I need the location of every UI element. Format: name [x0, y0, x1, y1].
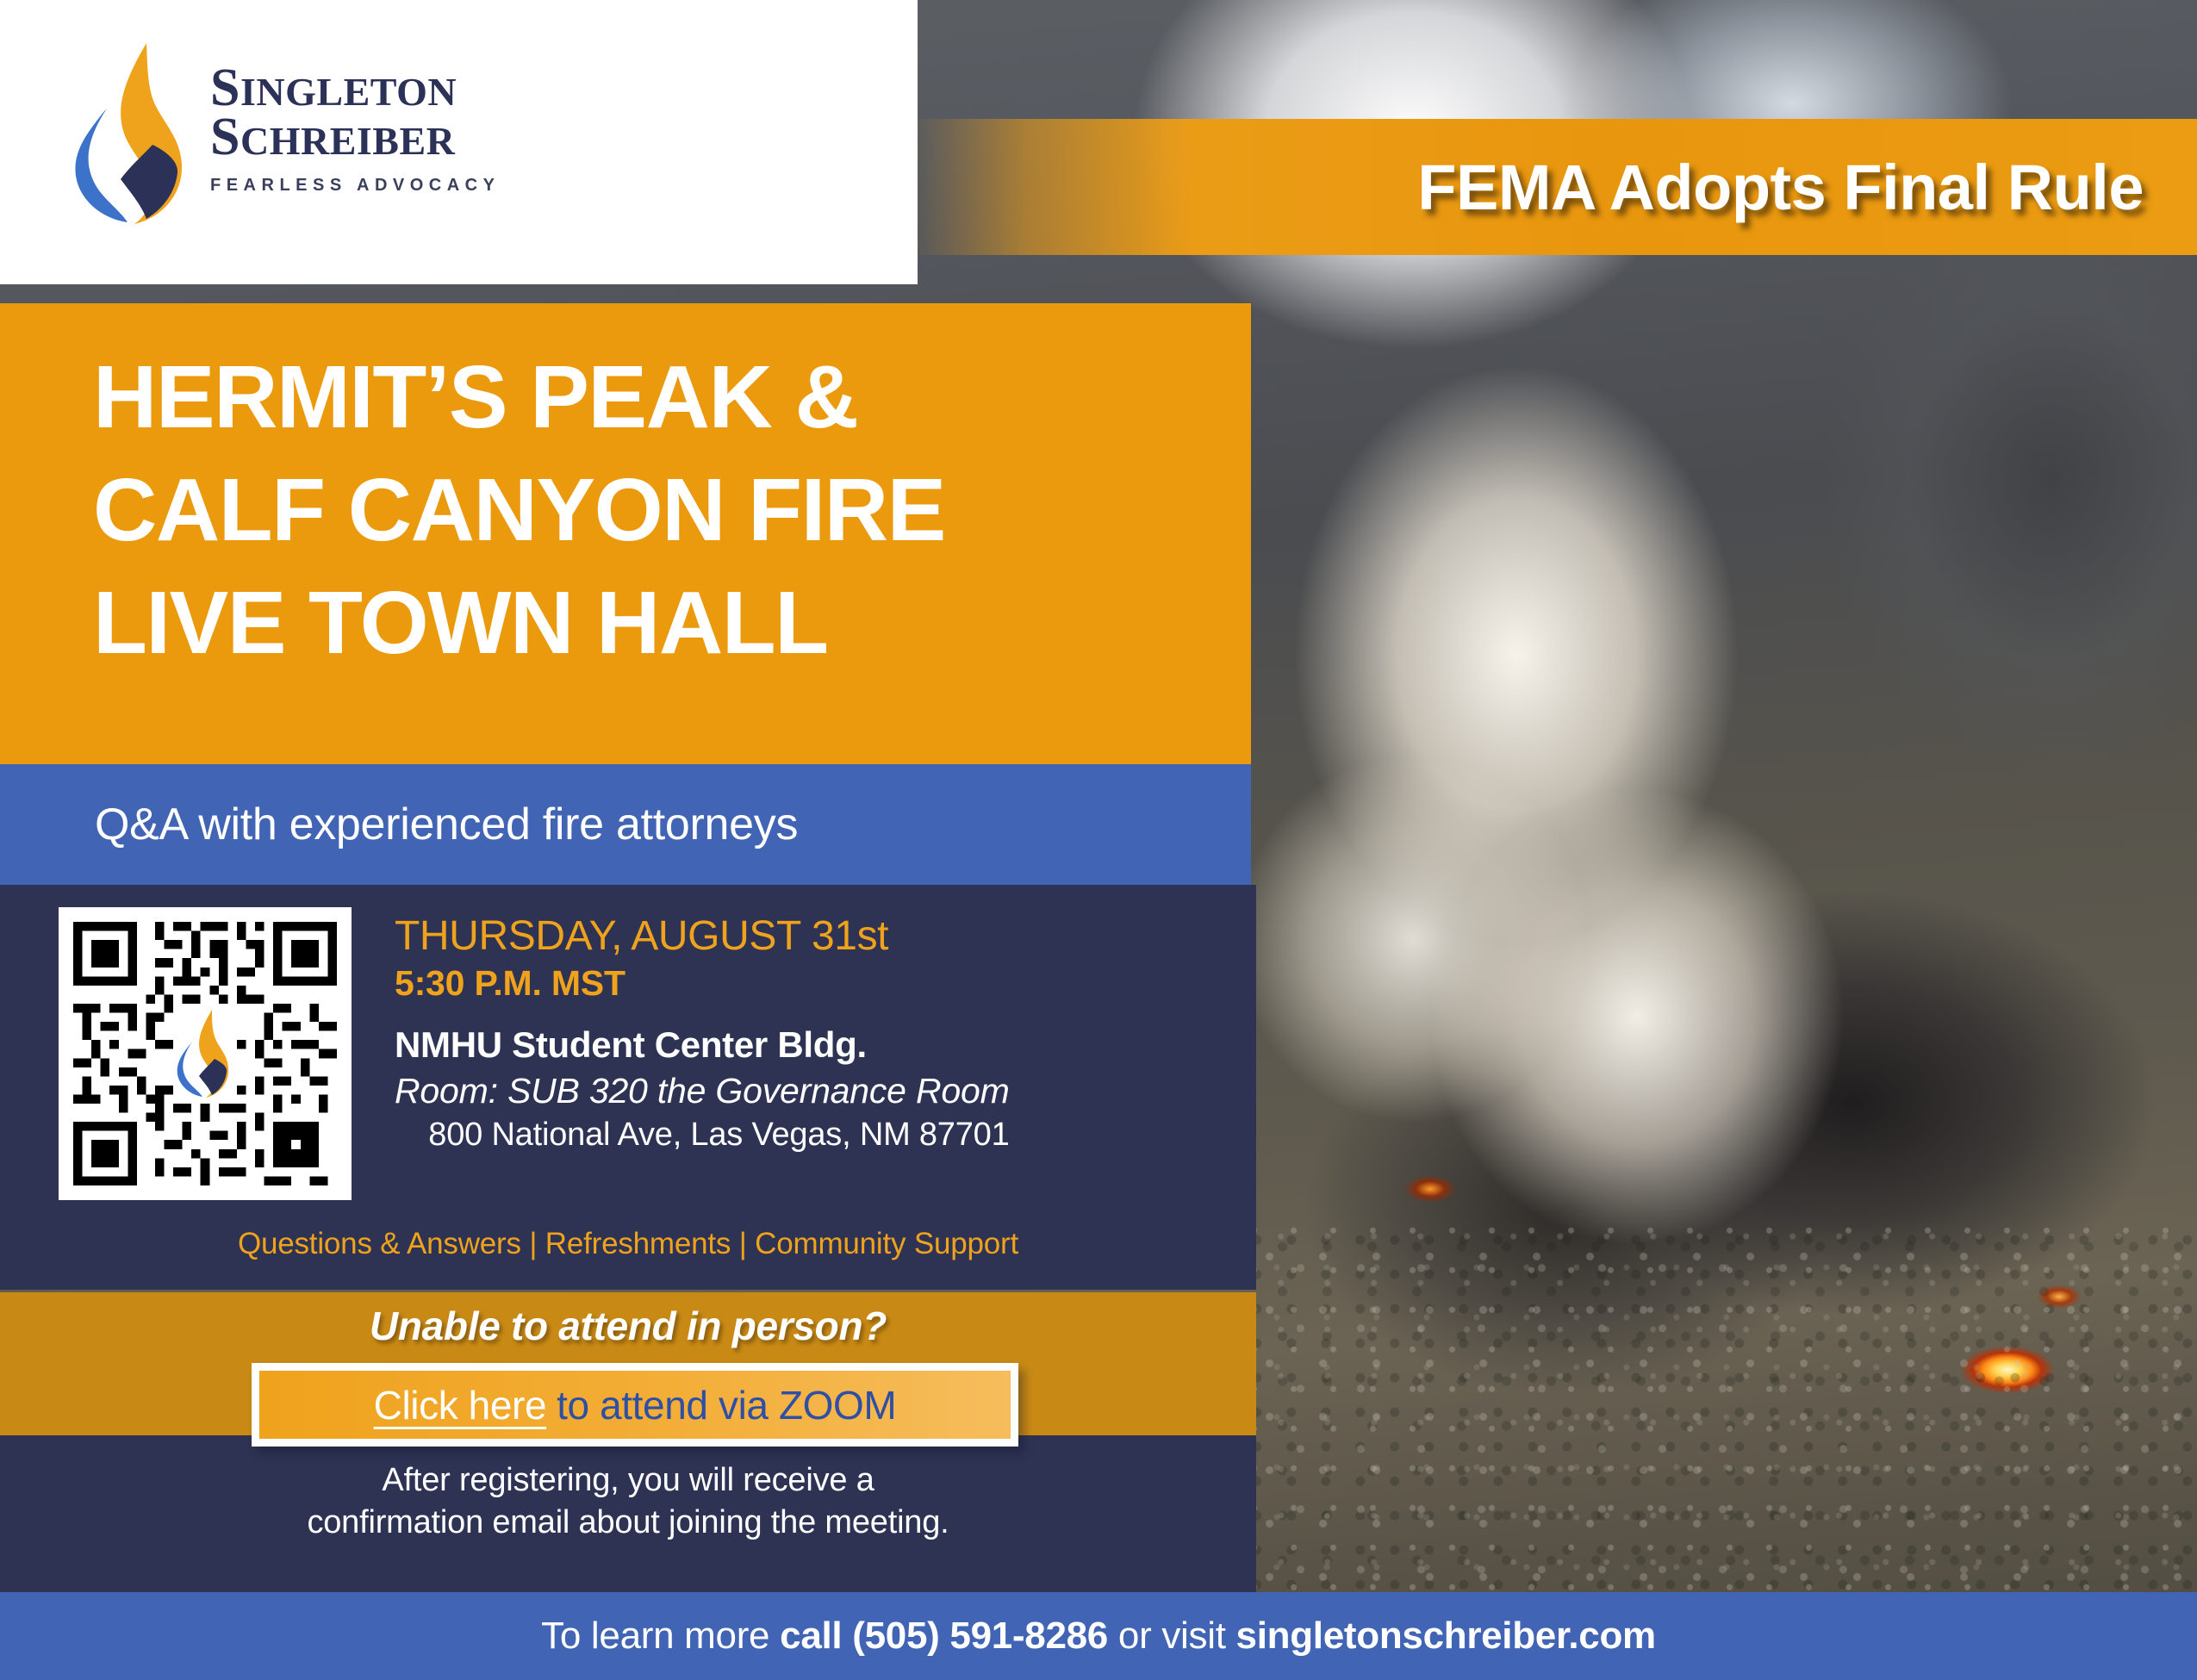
qr-code-block[interactable]	[59, 907, 352, 1200]
virtual-prompt: Unable to attend in person?	[0, 1303, 1256, 1349]
logo-wordmark: SINGLETON SCHREIBER FEARLESS ADVOCACY	[210, 41, 500, 196]
event-details-text: THURSDAY, AUGUST 31st 5:30 P.M. MST NMHU…	[395, 913, 1010, 1154]
title-line-3: LIVE TOWN HALL	[93, 567, 1251, 680]
subtitle-bar: Q&A with experienced fire attorneys	[0, 764, 1251, 885]
footer-bar: To learn more call (505) 591‑8286 or vis…	[0, 1592, 2197, 1680]
singleton-schreiber-logo: SINGLETON SCHREIBER FEARLESS ADVOCACY	[67, 41, 500, 227]
logo-name-line2: SCHREIBER	[210, 113, 500, 162]
registration-note: After registering, you will receive a co…	[0, 1459, 1256, 1543]
registration-note-line-2: confirmation email about joining the mee…	[0, 1502, 1256, 1544]
zoom-register-button[interactable]: Click here to attend via ZOOM	[252, 1363, 1018, 1447]
zoom-cta-text: to attend via ZOOM	[557, 1382, 896, 1428]
event-room: Room: SUB 320 the Governance Room	[395, 1071, 1010, 1111]
event-address: 800 National Ave, Las Vegas, NM 87701	[395, 1117, 1010, 1154]
footer-phone[interactable]: call (505) 591‑8286	[780, 1615, 1108, 1657]
zoom-register-button-inner[interactable]: Click here to attend via ZOOM	[259, 1371, 1011, 1439]
footer-contact: To learn more call (505) 591‑8286 or vis…	[541, 1615, 1656, 1658]
event-time: 5:30 P.M. MST	[395, 963, 1010, 1004]
qr-center-flame-icon	[173, 1009, 237, 1098]
logo-tagline: FEARLESS ADVOCACY	[210, 176, 500, 196]
fema-headline: FEMA Adopts Final Rule	[1417, 151, 2197, 224]
qr-code-icon[interactable]	[73, 922, 337, 1185]
event-title-block: HERMIT’S PEAK & CALF CANYON FIRE LIVE TO…	[0, 303, 1251, 764]
title-line-2: CALF CANYON FIRE	[93, 454, 1251, 567]
flame-logo-icon	[67, 41, 198, 227]
event-date: THURSDAY, AUGUST 31st	[395, 913, 1010, 960]
footer-site[interactable]: singletonschreiber.com	[1236, 1615, 1656, 1657]
subtitle-text: Q&A with experienced fire attorneys	[0, 799, 798, 850]
event-perks: Questions & Answers | Refreshments | Com…	[0, 1227, 1256, 1261]
fema-banner: FEMA Adopts Final Rule	[912, 119, 2197, 255]
footer-lead: To learn more	[541, 1615, 780, 1657]
event-venue: NMHU Student Center Bldg.	[395, 1024, 1010, 1066]
zoom-link-text[interactable]: Click here	[374, 1382, 547, 1428]
registration-note-line-1: After registering, you will receive a	[0, 1459, 1256, 1502]
logo-name-line1: SINGLETON	[210, 64, 500, 113]
title-line-1: HERMIT’S PEAK &	[93, 341, 1251, 454]
footer-mid: or visit	[1108, 1615, 1236, 1657]
